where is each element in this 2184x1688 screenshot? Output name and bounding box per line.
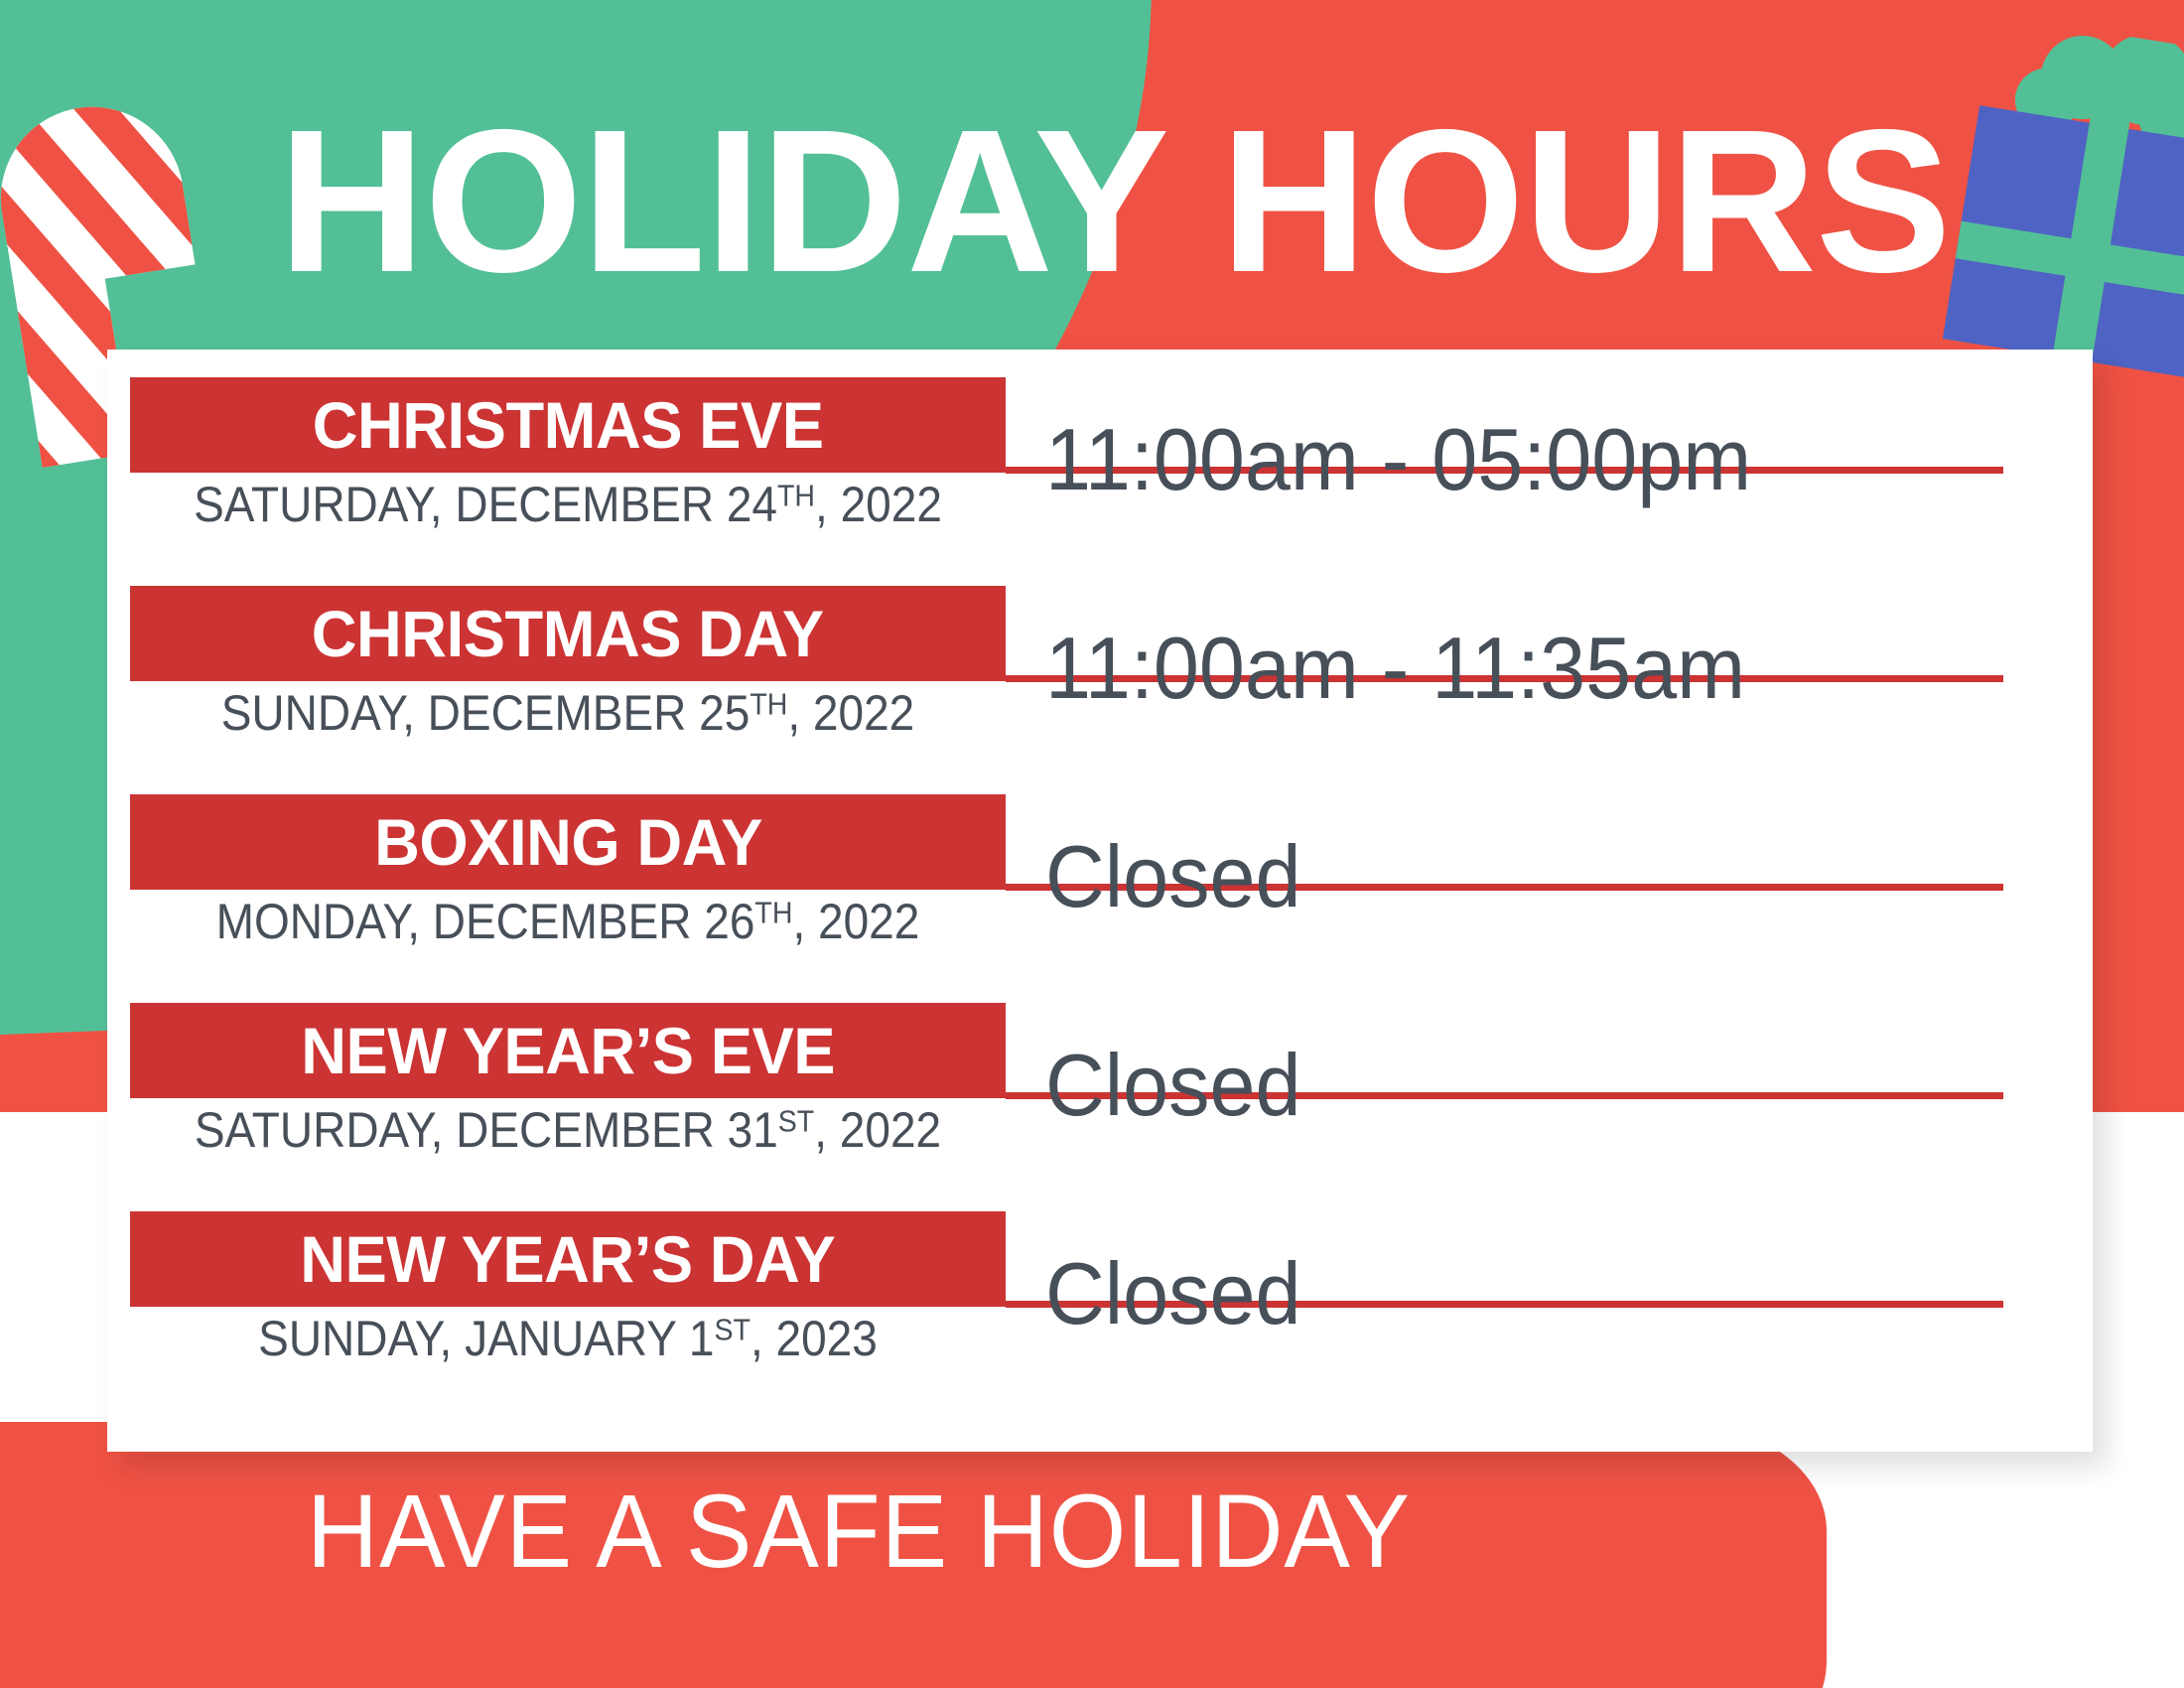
schedule-list: CHRISTMAS EVE SATURDAY, DECEMBER 24TH, 2… bbox=[107, 350, 2093, 1452]
date-year: , 2022 bbox=[787, 685, 914, 741]
hours-value: Closed bbox=[1045, 1031, 1301, 1140]
holiday-label-bar: BOXING DAY bbox=[130, 794, 1006, 890]
holiday-date: MONDAY, DECEMBER 26TH, 2022 bbox=[165, 894, 970, 951]
date-ordinal-suffix: TH bbox=[750, 687, 787, 722]
date-ordinal-suffix: ST bbox=[778, 1104, 814, 1139]
schedule-row: NEW YEAR’S EVE SATURDAY, DECEMBER 31ST, … bbox=[107, 1003, 2093, 1209]
holiday-label-bar: NEW YEAR’S DAY bbox=[130, 1211, 1006, 1307]
page-title: HOLIDAY HOURS bbox=[0, 99, 2184, 303]
date-prefix: SUNDAY, DECEMBER 25 bbox=[221, 685, 751, 741]
hours-value: 11:00am - 11:35am bbox=[1045, 614, 1745, 723]
hours-value: 11:00am - 05:00pm bbox=[1045, 405, 1751, 514]
date-year: , 2022 bbox=[815, 477, 942, 532]
date-year: , 2022 bbox=[814, 1102, 941, 1158]
hours-value: Closed bbox=[1045, 822, 1301, 931]
schedule-row: CHRISTMAS EVE SATURDAY, DECEMBER 24TH, 2… bbox=[107, 377, 2093, 584]
date-ordinal-suffix: TH bbox=[777, 479, 815, 513]
date-year: , 2022 bbox=[792, 894, 919, 949]
date-ordinal-suffix: ST bbox=[714, 1313, 750, 1347]
footer-message: HAVE A SAFE HOLIDAY bbox=[43, 1479, 1675, 1584]
holiday-name: CHRISTMAS DAY bbox=[312, 601, 824, 666]
hours-value: Closed bbox=[1045, 1239, 1301, 1348]
holiday-date: SATURDAY, DECEMBER 24TH, 2022 bbox=[165, 477, 970, 534]
date-ordinal-suffix: TH bbox=[754, 896, 792, 930]
holiday-date: SUNDAY, DECEMBER 25TH, 2022 bbox=[165, 685, 970, 743]
date-year: , 2023 bbox=[751, 1311, 878, 1366]
date-prefix: SATURDAY, DECEMBER 31 bbox=[195, 1102, 778, 1158]
holiday-name: CHRISTMAS EVE bbox=[313, 392, 824, 458]
date-prefix: MONDAY, DECEMBER 26 bbox=[216, 894, 755, 949]
holiday-name: NEW YEAR’S EVE bbox=[301, 1018, 835, 1083]
holiday-label-bar: CHRISTMAS EVE bbox=[130, 377, 1006, 473]
holiday-name: NEW YEAR’S DAY bbox=[300, 1226, 835, 1292]
schedule-row: BOXING DAY MONDAY, DECEMBER 26TH, 2022 C… bbox=[107, 794, 2093, 1001]
hours-card: CHRISTMAS EVE SATURDAY, DECEMBER 24TH, 2… bbox=[107, 350, 2093, 1452]
schedule-row: CHRISTMAS DAY SUNDAY, DECEMBER 25TH, 202… bbox=[107, 586, 2093, 792]
holiday-label-bar: NEW YEAR’S EVE bbox=[130, 1003, 1006, 1098]
holiday-label-bar: CHRISTMAS DAY bbox=[130, 586, 1006, 681]
holiday-date: SUNDAY, JANUARY 1ST, 2023 bbox=[165, 1311, 970, 1368]
schedule-row: NEW YEAR’S DAY SUNDAY, JANUARY 1ST, 2023… bbox=[107, 1211, 2093, 1418]
date-prefix: SATURDAY, DECEMBER 24 bbox=[194, 477, 777, 532]
holiday-date: SATURDAY, DECEMBER 31ST, 2022 bbox=[165, 1102, 970, 1160]
date-prefix: SUNDAY, JANUARY 1 bbox=[258, 1311, 714, 1366]
holiday-name: BOXING DAY bbox=[374, 809, 762, 875]
holiday-hours-poster: HOLIDAY HOURS CHRISTMAS EVE SATURDAY, DE… bbox=[0, 0, 2184, 1688]
